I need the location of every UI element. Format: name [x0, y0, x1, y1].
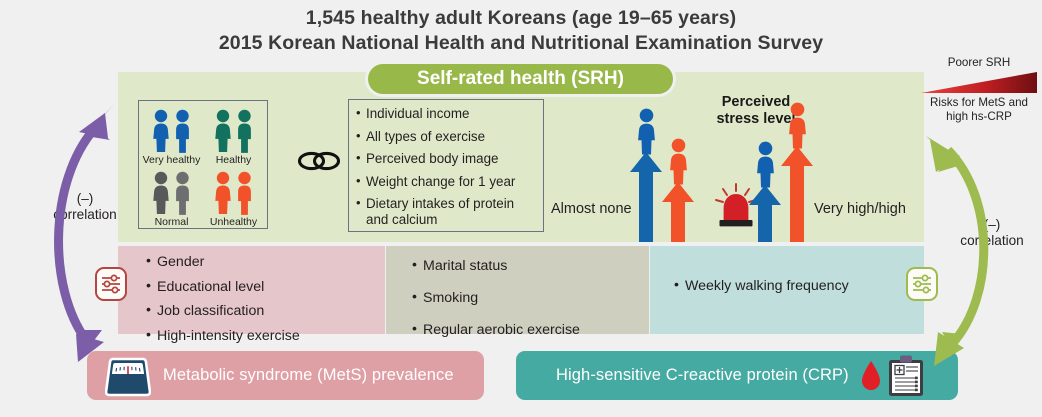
correlation-sign: (–): [37, 191, 133, 207]
srh-category-label: Very healthy: [139, 154, 204, 166]
figure-pair-very-healthy: [139, 105, 204, 153]
srh-category-healthy: Healthy: [201, 105, 266, 166]
factor-item: All types of exercise: [356, 129, 535, 145]
srh-factors-box: Individual income All types of exercise …: [348, 99, 544, 232]
male-figure-icon: [234, 109, 255, 153]
male-figure-icon: [172, 171, 193, 215]
title-line-2: 2015 Korean National Health and Nutritio…: [0, 31, 1042, 56]
covariate-list: Gender Educational level Job classificat…: [118, 246, 385, 344]
legend-bottom-line-2: high hs-CRP: [916, 110, 1042, 124]
correlation-word: correlation: [944, 233, 1040, 249]
male-figure-icon: [172, 109, 193, 153]
bathroom-scale-icon: [105, 355, 151, 397]
srh-header-pill: Self-rated health (SRH): [368, 64, 673, 94]
stress-arrow-male-low: [629, 152, 663, 242]
factor-item: Weight change for 1 year: [356, 174, 535, 190]
title-line-1: 1,545 healthy adult Koreans (age 19–65 y…: [0, 6, 1042, 31]
stress-low-label: Almost none: [551, 201, 632, 217]
covariate-item: Job classification: [146, 303, 385, 319]
outcome-label: High-sensitive C-reactive protein (CRP): [556, 366, 849, 385]
outcome-mets-box: Metabolic syndrome (MetS) prevalence: [87, 351, 484, 400]
outcome-crp-box: High-sensitive C-reactive protein (CRP): [516, 351, 958, 400]
covariates-group-3: Weekly walking frequency: [650, 246, 924, 334]
srh-header-label: Self-rated health (SRH): [417, 68, 624, 90]
correlation-word: correlation: [37, 207, 133, 223]
covariate-item: Regular aerobic exercise: [412, 322, 649, 338]
figure-pair-unhealthy: [201, 167, 266, 215]
legend-top-label: Poorer SRH: [916, 56, 1042, 70]
female-figure-icon: [151, 109, 171, 153]
srh-category-unhealthy: Unhealthy: [201, 167, 266, 228]
srh-category-very-healthy: Very healthy: [139, 105, 204, 166]
factor-item: Perceived body image: [356, 151, 535, 167]
factor-item: Individual income: [356, 106, 535, 122]
sliders-adjust-icon: [95, 267, 127, 301]
factor-item: Dietary intakes of protein and calcium: [356, 196, 535, 227]
srh-category-label: Healthy: [201, 154, 266, 166]
blood-drop-icon: [859, 358, 883, 394]
female-figure-icon: [213, 109, 233, 153]
srh-category-label: Unhealthy: [201, 216, 266, 228]
stress-arrow-female-low: [661, 182, 695, 242]
covariate-item: High-intensity exercise: [146, 328, 385, 344]
figure-pair-healthy: [201, 105, 266, 153]
srh-category-normal: Normal: [139, 167, 204, 228]
srh-category-box: Very healthy Healthy: [138, 100, 268, 229]
female-figure-icon: [666, 138, 691, 186]
covariate-item: Gender: [146, 254, 385, 270]
male-figure-icon: [234, 171, 255, 215]
stress-arrow-male-high: [748, 185, 782, 242]
srh-category-label: Normal: [139, 216, 204, 228]
covariate-item: Smoking: [412, 290, 649, 306]
right-correlation-label: (–) correlation: [944, 217, 1040, 249]
outcome-label: Metabolic syndrome (MetS) prevalence: [163, 366, 454, 385]
legend-bottom-line-1: Risks for MetS and: [916, 96, 1042, 110]
female-figure-icon: [753, 141, 778, 189]
chain-link-icon: [297, 148, 341, 174]
covariates-group-2: Marital status Smoking Regular aerobic e…: [386, 246, 649, 334]
covariate-item: Weekly walking frequency: [674, 278, 924, 294]
female-figure-icon: [213, 171, 233, 215]
figure-pair-normal: [139, 167, 204, 215]
clipboard-icon: [887, 354, 925, 398]
female-figure-icon: [785, 102, 810, 150]
risk-legend: Poorer SRH Risks for MetS and high hs-CR…: [916, 56, 1042, 124]
left-correlation-label: (–) correlation: [37, 191, 133, 223]
covariate-item: Educational level: [146, 279, 385, 295]
page-title: 1,545 healthy adult Koreans (age 19–65 y…: [0, 6, 1042, 56]
stress-arrow-female-high: [780, 146, 814, 242]
sliders-adjust-icon: [906, 267, 938, 301]
covariate-list: Marital status Smoking Regular aerobic e…: [386, 246, 649, 338]
risk-gradient-wedge: [921, 72, 1037, 94]
srh-factors-list: Individual income All types of exercise …: [356, 106, 535, 228]
female-figure-icon: [634, 108, 659, 156]
covariate-item: Marital status: [412, 258, 649, 274]
correlation-sign: (–): [944, 217, 1040, 233]
female-figure-icon: [151, 171, 171, 215]
infographic-canvas: 1,545 healthy adult Koreans (age 19–65 y…: [0, 0, 1042, 417]
covariates-group-1: Gender Educational level Job classificat…: [118, 246, 385, 334]
stress-high-label: Very high/high: [814, 201, 906, 217]
covariate-list: Weekly walking frequency: [650, 246, 924, 294]
